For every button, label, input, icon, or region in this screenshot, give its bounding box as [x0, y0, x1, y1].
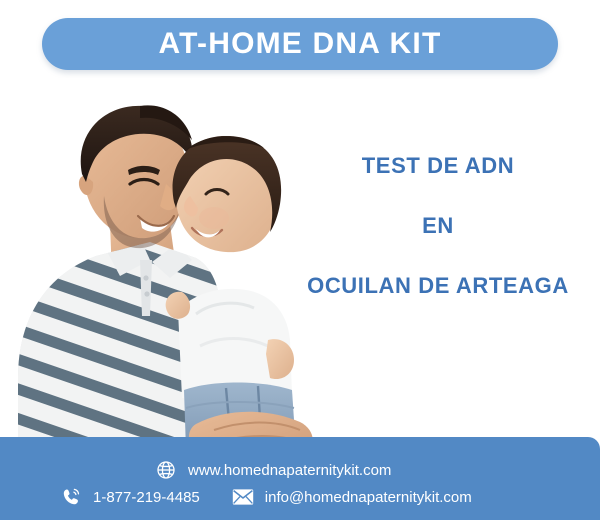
footer-row-website: www.homednapaternitykit.com	[155, 459, 391, 481]
father-and-child-illustration	[0, 78, 330, 460]
headline-line-2: EN	[288, 215, 588, 237]
hero-photo	[0, 78, 330, 460]
phone-label: 1-877-219-4485	[93, 490, 200, 505]
phone-icon	[60, 486, 82, 508]
headline-block: TEST DE ADN EN OCUILAN DE ARTEAGA	[288, 155, 588, 297]
phone-item[interactable]: 1-877-219-4485	[60, 486, 200, 508]
promo-card: AT-HOME DNA KIT	[0, 0, 600, 520]
envelope-icon	[232, 486, 254, 508]
headline-line-1: TEST DE ADN	[288, 155, 588, 177]
headline-line-3: OCUILAN DE ARTEAGA	[288, 275, 588, 297]
page-title: AT-HOME DNA KIT	[159, 29, 442, 59]
footer-row-contact: 1-877-219-4485 info@homednapaternitykit.…	[60, 486, 472, 508]
email-item[interactable]: info@homednapaternitykit.com	[232, 486, 472, 508]
website-label: www.homednapaternitykit.com	[188, 463, 391, 478]
contact-footer: www.homednapaternitykit.com 1-877-219-44…	[0, 437, 600, 520]
website-item[interactable]: www.homednapaternitykit.com	[155, 459, 391, 481]
globe-icon	[155, 459, 177, 481]
email-label: info@homednapaternitykit.com	[265, 490, 472, 505]
header-banner: AT-HOME DNA KIT	[42, 18, 558, 70]
